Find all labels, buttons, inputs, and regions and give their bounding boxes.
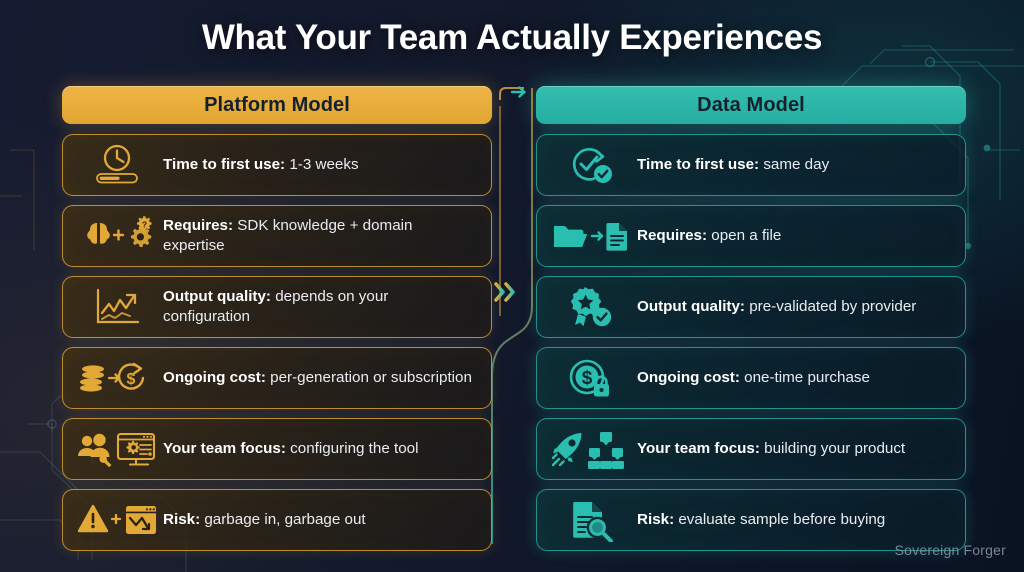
rocket-blocks-icon (545, 426, 637, 472)
clock-check-icon (545, 142, 637, 188)
list-item-label: Risk: (637, 511, 674, 528)
list-item-label: Time to first use: (637, 156, 759, 173)
column-header-platform-model: Platform Model (62, 86, 492, 124)
coin-lock-icon: $ (545, 355, 637, 401)
clock-progress-icon (71, 142, 163, 188)
list-item-text: Time to first use: 1-3 weeks (163, 155, 479, 175)
column-data-model: Data Model Time to first use: same day (536, 86, 966, 551)
list-item[interactable]: Output quality: depends on your configur… (62, 276, 492, 338)
list-item-value: per-generation or subscription (266, 369, 472, 386)
svg-text:?: ? (142, 220, 147, 230)
list-item-label: Output quality: (163, 288, 271, 305)
list-item-text: Risk: evaluate sample before buying (637, 510, 953, 530)
list-item[interactable]: $ Ongoing cost: per-generation or subscr… (62, 347, 492, 409)
list-item-label: Risk: (163, 511, 200, 528)
list-item-value: evaluate sample before buying (674, 511, 885, 528)
list-item[interactable]: Your team focus: configuring the tool (62, 418, 492, 480)
list-item-text: Ongoing cost: one-time purchase (637, 368, 953, 388)
list-item-label: Output quality: (637, 298, 745, 315)
list-item-value: same day (759, 156, 829, 173)
list-item-value: pre-validated by provider (745, 298, 916, 315)
list-item[interactable]: Your team focus: building your product (536, 418, 966, 480)
column-platform-model: Platform Model Time to first use: 1-3 we… (62, 86, 492, 551)
list-item-value: open a file (707, 227, 781, 244)
list-item-label: Requires: (637, 227, 707, 244)
svg-text:$: $ (127, 371, 136, 388)
brain-plus-gears-question-icon: ? (71, 213, 163, 259)
list-item[interactable]: $ Ongoing cost: one-time purchase (536, 347, 966, 409)
list-item[interactable]: Risk: garbage in, garbage out (62, 489, 492, 551)
list-item-text: Time to first use: same day (637, 155, 953, 175)
coins-to-recurring-dollar-icon: $ (71, 355, 163, 401)
svg-text:$: $ (582, 368, 593, 389)
badge-star-check-icon (545, 284, 637, 330)
list-item-label: Ongoing cost: (637, 369, 740, 386)
list-item-label: Your team focus: (637, 440, 760, 457)
column-header-data-model: Data Model (536, 86, 966, 124)
list-item-value: 1-3 weeks (285, 156, 358, 173)
folder-to-file-icon (545, 213, 637, 259)
list-item-text: Ongoing cost: per-generation or subscrip… (163, 368, 479, 388)
list-item-text: Requires: SDK knowledge + domain experti… (163, 216, 479, 256)
line-chart-volatile-icon (71, 284, 163, 330)
list-item-value: one-time purchase (740, 369, 870, 386)
connector-flow (486, 86, 544, 546)
list-item[interactable]: Time to first use: 1-3 weeks (62, 134, 492, 196)
double-chevron-right-icon (496, 284, 513, 300)
list-item-label: Ongoing cost: (163, 369, 266, 386)
list-item-label: Your team focus: (163, 440, 286, 457)
list-item[interactable]: ? Requires: SDK knowledge + domain exper… (62, 205, 492, 267)
list-item-text: Output quality: pre-validated by provide… (637, 297, 953, 317)
list-item-value: building your product (760, 440, 905, 457)
document-magnifier-icon (545, 497, 637, 543)
list-item[interactable]: Requires: open a file (536, 205, 966, 267)
list-item-text: Requires: open a file (637, 226, 953, 246)
row-list-platform-model: Time to first use: 1-3 weeks (62, 134, 492, 551)
watermark: Sovereign Forger (895, 542, 1006, 558)
list-item-label: Time to first use: (163, 156, 285, 173)
users-wrench-monitor-gear-icon (71, 426, 163, 472)
list-item-text: Your team focus: configuring the tool (163, 439, 479, 459)
list-item-text: Your team focus: building your product (637, 439, 953, 459)
list-item-value: configuring the tool (286, 440, 419, 457)
list-item-label: Requires: (163, 217, 233, 234)
list-item-text: Risk: garbage in, garbage out (163, 510, 479, 530)
list-item-text: Output quality: depends on your configur… (163, 287, 479, 327)
row-list-data-model: Time to first use: same day Requir (536, 134, 966, 551)
list-item[interactable]: Time to first use: same day (536, 134, 966, 196)
warning-plus-bad-chart-icon (71, 497, 163, 543)
list-item[interactable]: Output quality: pre-validated by provide… (536, 276, 966, 338)
list-item-value: garbage in, garbage out (200, 511, 366, 528)
page-title: What Your Team Actually Experiences (0, 18, 1024, 58)
